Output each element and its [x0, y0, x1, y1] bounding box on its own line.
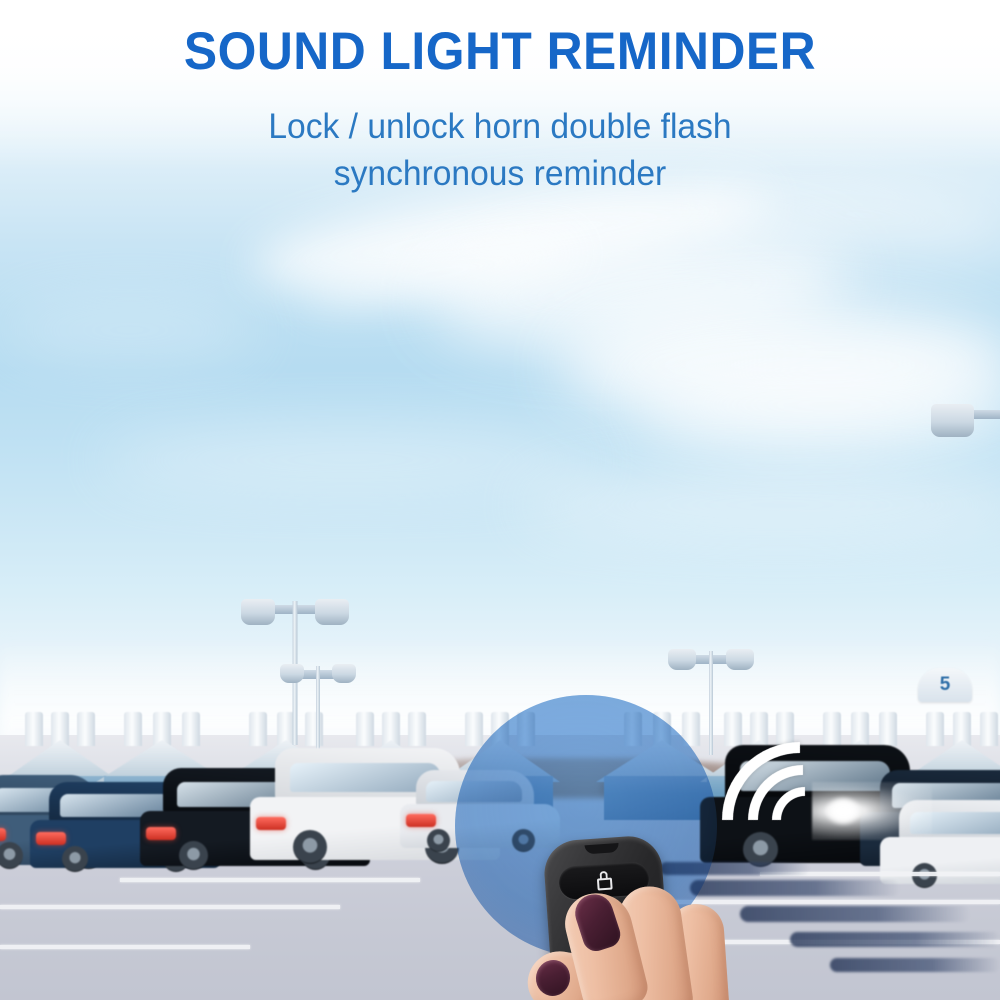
- promo-banner: 5: [0, 0, 1000, 1000]
- car-shadow: [790, 932, 1000, 947]
- key-fob-and-hand: [520, 830, 730, 1000]
- light-pole: [270, 660, 366, 755]
- car-shadow: [830, 958, 1000, 972]
- padlock-icon: [596, 871, 612, 891]
- cloud-wisp: [100, 430, 600, 490]
- subtitle-line-1: Lock / unlock horn double flash: [20, 104, 980, 151]
- parking-stall-line: [0, 945, 250, 949]
- parking-level-sign: 5: [918, 668, 972, 702]
- radio-signal-waves: [722, 742, 892, 902]
- parking-stall-line: [120, 878, 420, 882]
- page-subtitle: Lock / unlock horn double flash synchron…: [20, 104, 980, 197]
- subtitle-line-2: synchronous reminder: [20, 151, 980, 198]
- light-pole: [930, 400, 1000, 690]
- page-title: SOUND LIGHT REMINDER: [30, 24, 970, 80]
- fob-keyring-notch: [585, 843, 620, 854]
- cloud-wisp: [0, 300, 260, 360]
- car-shadow: [740, 906, 970, 922]
- parking-stall-line: [0, 905, 340, 909]
